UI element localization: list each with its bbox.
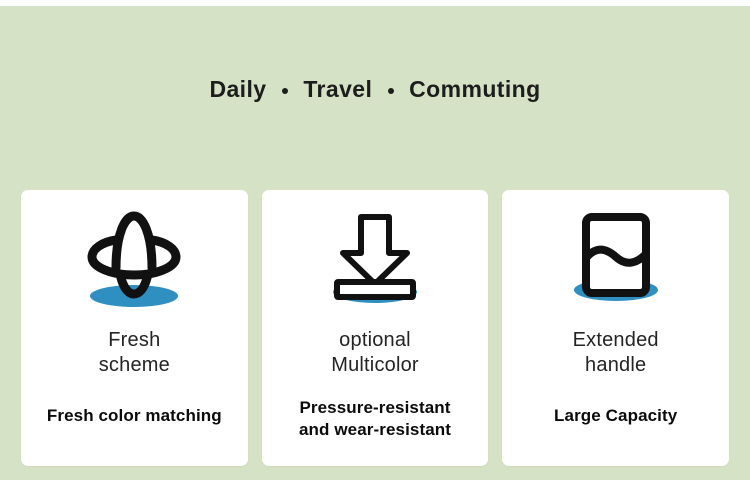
feature-card-headline: Pressure-resistant and wear-resistant bbox=[262, 397, 489, 442]
feature-card-caption: Extended handle bbox=[502, 328, 729, 378]
feature-card-fresh-scheme[interactable]: Fresh scheme Fresh color matching bbox=[21, 190, 248, 466]
fresh-scheme-icon bbox=[21, 204, 248, 316]
caption-line-1: optional bbox=[262, 328, 489, 353]
caption-line-2: handle bbox=[502, 353, 729, 378]
caption-line-2: scheme bbox=[21, 353, 248, 378]
feature-card-headline: Large Capacity bbox=[502, 405, 729, 427]
feature-card-headline: Fresh color matching bbox=[21, 405, 248, 427]
product-feature-banner: Daily Travel Commuting Fresh schem bbox=[0, 0, 750, 500]
feature-card-caption: optional Multicolor bbox=[262, 328, 489, 378]
feature-card-large-capacity[interactable]: Extended handle Large Capacity bbox=[502, 190, 729, 466]
feature-card-list: Fresh scheme Fresh color matching option… bbox=[21, 190, 729, 466]
feature-card-pressure-resistant[interactable]: optional Multicolor Pressure-resistant a… bbox=[262, 190, 489, 466]
caption-line-1: Extended bbox=[502, 328, 729, 353]
large-capacity-icon bbox=[502, 204, 729, 316]
feature-card-caption: Fresh scheme bbox=[21, 328, 248, 378]
headline-line-1: Large Capacity bbox=[502, 405, 729, 427]
header-item-travel: Travel bbox=[303, 76, 372, 102]
banner-header: Daily Travel Commuting bbox=[0, 78, 750, 101]
pressure-resistant-icon bbox=[262, 204, 489, 316]
header-item-commuting: Commuting bbox=[409, 76, 540, 102]
headline-line-1: Pressure-resistant bbox=[262, 397, 489, 419]
caption-line-1: Fresh bbox=[21, 328, 248, 353]
header-separator-dot-icon bbox=[388, 88, 394, 94]
headline-line-2: and wear-resistant bbox=[262, 419, 489, 441]
caption-line-2: Multicolor bbox=[262, 353, 489, 378]
header-item-daily: Daily bbox=[209, 76, 266, 102]
headline-line-1: Fresh color matching bbox=[21, 405, 248, 427]
header-separator-dot-icon bbox=[282, 88, 288, 94]
